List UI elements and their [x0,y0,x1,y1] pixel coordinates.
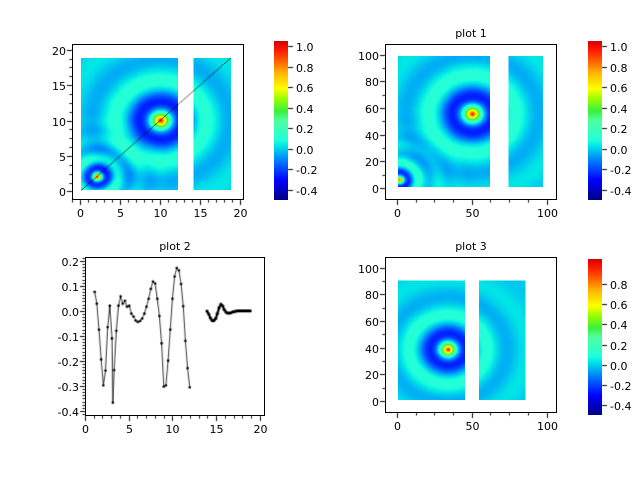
ytick-label-0: 0 [24,187,66,198]
xtick-label-2: 10 [141,208,181,219]
panel-plot1[interactable]: plot 1 050100020406080100-0.4-0.20.00.20… [320,0,640,240]
plot1-colorbar [588,41,602,200]
cbar-tick-label-5: 0.6 [610,83,640,94]
ytick-label-0: 0 [337,184,379,195]
ytick-label-5: 100 [337,264,379,275]
cbar-tick-label-3: 0.2 [610,124,640,135]
cbar-tick-label-5: 0.6 [610,300,640,311]
plot3-title: plot 3 [385,241,557,252]
xtick-label-0: 0 [378,208,418,219]
panel-plot3[interactable]: plot 3 050100020406080100-0.4-0.20.00.20… [320,240,640,480]
ytick-label-5: 0.1 [37,282,79,293]
ytick-label-5: 100 [337,51,379,62]
xtick-label-3: 15 [197,424,237,435]
ytick-label-3: 60 [337,317,379,328]
plot0-heatmap [73,45,243,199]
cbar-tick-label-1: -0.2 [610,381,640,392]
xtick-label-2: 100 [528,208,568,219]
xtick-label-2: 10 [153,424,193,435]
ytick-label-1: -0.3 [37,382,79,393]
plot0-colorbar [274,41,288,200]
cbar-tick-label-3: 0.2 [610,341,640,352]
ytick-label-4: 80 [337,77,379,88]
ytick-label-3: 15 [24,81,66,92]
plot2-line-series [86,258,264,415]
plot1-title: plot 1 [385,28,557,39]
cbar-tick-label-0: -0.4 [610,401,640,412]
ytick-label-6: 0.2 [37,257,79,268]
xtick-label-0: 0 [66,424,106,435]
plot1-heatmap [386,45,556,199]
xtick-label-3: 15 [181,208,221,219]
ytick-label-2: 40 [337,344,379,355]
ytick-label-2: 10 [24,117,66,128]
ytick-label-0: -0.4 [37,407,79,418]
ytick-label-1: 20 [337,370,379,381]
plot3-colorbar [588,259,602,415]
ytick-label-1: 5 [24,152,66,163]
cbar-tick-label-4: 0.4 [610,320,640,331]
xtick-label-0: 0 [378,421,418,432]
xtick-label-0: 0 [61,208,101,219]
xtick-label-1: 50 [453,421,493,432]
ytick-label-4: 80 [337,290,379,301]
panel-plot0[interactable]: 0510152005101520-0.4-0.20.00.20.40.60.81… [0,0,320,240]
ytick-label-3: -0.1 [37,332,79,343]
ytick-label-0: 0 [337,397,379,408]
cbar-tick-label-6: 0.8 [610,280,640,291]
plot3-heatmap [386,258,556,412]
cbar-tick-label-2: 0.0 [610,361,640,372]
xtick-label-4: 20 [241,424,281,435]
ytick-label-2: -0.2 [37,357,79,368]
xtick-label-1: 50 [453,208,493,219]
cbar-tick-label-0: -0.4 [610,186,640,197]
ytick-label-4: 0.0 [37,307,79,318]
plot2-title: plot 2 [85,241,265,252]
figure-canvas: 0510152005101520-0.4-0.20.00.20.40.60.81… [0,0,640,480]
xtick-label-4: 20 [221,208,261,219]
cbar-tick-label-7: 1.0 [610,42,640,53]
xtick-label-1: 5 [110,424,150,435]
xtick-label-1: 5 [101,208,141,219]
cbar-tick-label-2: 0.0 [610,145,640,156]
xtick-label-2: 100 [528,421,568,432]
cbar-tick-label-4: 0.4 [610,104,640,115]
ytick-label-3: 60 [337,104,379,115]
ytick-label-2: 40 [337,131,379,142]
panel-plot2[interactable]: plot 2 05101520-0.4-0.3-0.2-0.10.00.10.2 [0,240,320,480]
cbar-tick-label-6: 0.8 [610,63,640,74]
cbar-tick-label-1: -0.2 [610,165,640,176]
ytick-label-4: 20 [24,46,66,57]
ytick-label-1: 20 [337,157,379,168]
